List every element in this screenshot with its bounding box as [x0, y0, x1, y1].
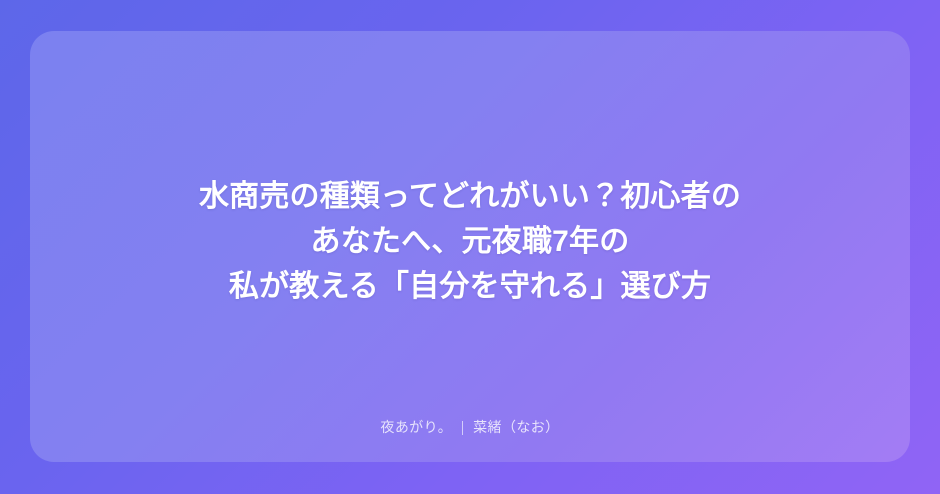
hero-card: 水商売の種類ってどれがいい？初心者の あなたへ、元夜職7年の 私が教える「自分を…: [30, 31, 910, 462]
hero-title-block: 水商売の種類ってどれがいい？初心者の あなたへ、元夜職7年の 私が教える「自分を…: [30, 174, 910, 309]
hero-footer: 夜あがり。 菜緒（なお）: [30, 419, 910, 436]
footer-separator-divider: [462, 421, 463, 435]
author-name: 菜緒（なお）: [473, 419, 559, 436]
hero-canvas: 水商売の種類ってどれがいい？初心者の あなたへ、元夜職7年の 私が教える「自分を…: [0, 0, 940, 494]
page-title: 水商売の種類ってどれがいい？初心者の あなたへ、元夜職7年の 私が教える「自分を…: [78, 174, 862, 309]
site-name: 夜あがり。: [380, 419, 452, 436]
